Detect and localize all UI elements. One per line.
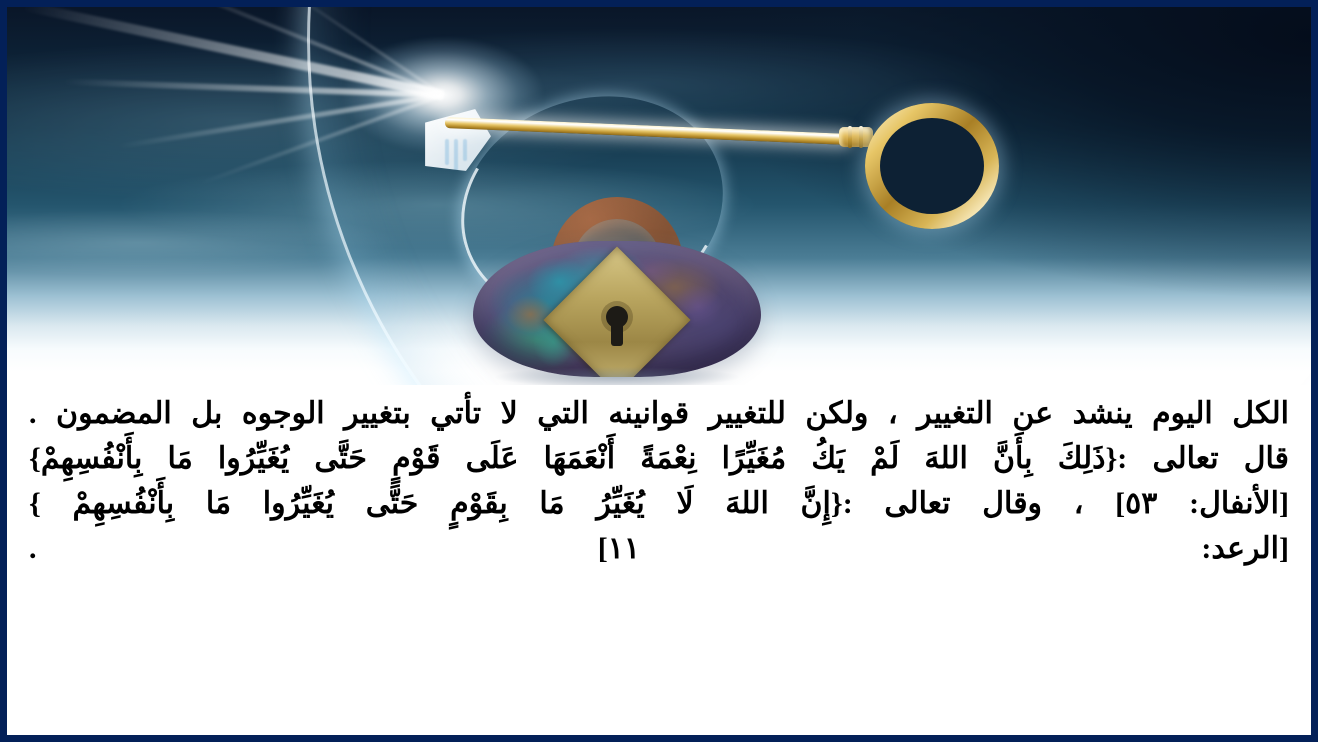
earth-padlock-icon	[473, 197, 761, 377]
padlock-body	[473, 241, 761, 377]
slide-text-body: الكل اليوم ينشد عن التغيير ، ولكن للتغيي…	[7, 385, 1311, 735]
quran-citation-rad: [الرعد: ١١] .	[29, 526, 1289, 571]
quran-verse-rad: [الأنفال: ٥٣] ، وقال تعالى :{إِنَّ اللهَ…	[29, 481, 1289, 526]
paragraph-change-intro: الكل اليوم ينشد عن التغيير ، ولكن للتغيي…	[29, 385, 1289, 436]
key-shaft	[445, 117, 849, 145]
golden-key-icon	[437, 91, 997, 211]
padlock-shadow	[495, 367, 739, 387]
hero-artwork	[7, 7, 1311, 387]
key-bow-ring	[865, 103, 999, 229]
quran-verse-anfal: قال تعالى :{ذَلِكَ بِأَنَّ اللهَ لَمْ يَ…	[29, 436, 1289, 481]
slide: الكل اليوم ينشد عن التغيير ، ولكن للتغيي…	[0, 0, 1318, 742]
padlock-keyhole	[606, 306, 628, 328]
key-blade-notches	[443, 139, 469, 173]
